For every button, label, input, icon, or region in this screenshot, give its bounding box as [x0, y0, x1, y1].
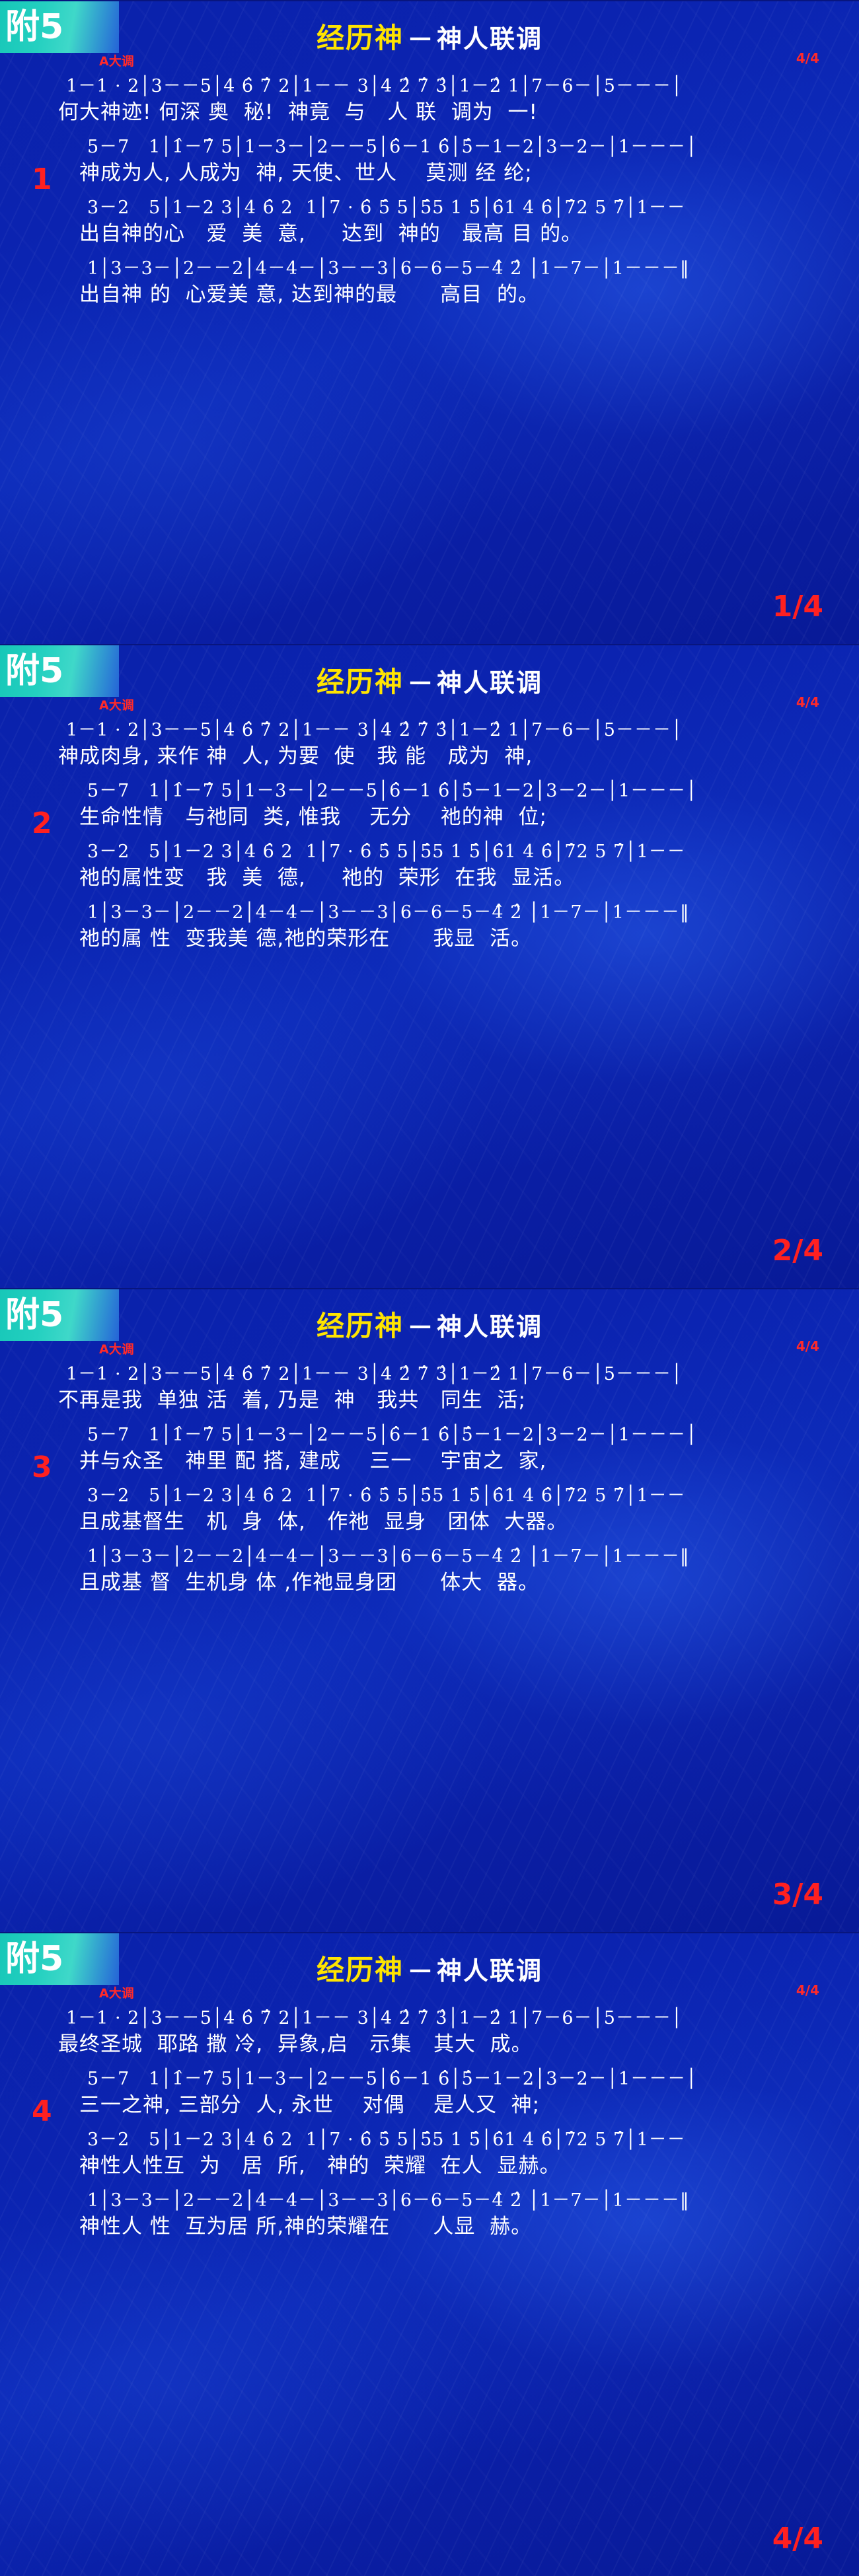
lyric-line: 出自神的心 爱 美 意, 达到 神的 最高 目 的。	[53, 221, 833, 247]
lyric-line: 并与众圣 神里 配 搭, 建成 三一 宇宙之 家,	[53, 1448, 833, 1474]
lyric-line: 神性人 性 互为居 所,神的荣耀在 人显 赫。	[53, 2213, 833, 2240]
lyric-line: 三一之神, 三部分 人, 永世 对偶 是人又 神;	[53, 2092, 833, 2118]
notation-line: 3－2 5│1－2 3│4 6̂ 2 1│7 · 6̂ 5̂ 5│5̂5 1 5…	[53, 1485, 833, 1507]
notation-line: 1│3－3－│2－－2│4－4－│3－－3│6－6－5－4̂ 2̂ │1－7－│…	[53, 258, 833, 280]
staff-line: 3－2 5│1－2 3│4 6̂ 2 1│7 · 6̂ 5̂ 5│5̂5 1 5…	[53, 1485, 833, 1535]
staff-line: 1－1 · 2│3－－5│4 6̂ 7̂ 2│1－－ 3│4 2̂ 7̂ 3̂│…	[53, 719, 833, 769]
page-label: 1/4	[772, 592, 823, 622]
page-label: 2/4	[772, 1236, 823, 1266]
notation-line: 1－1 · 2│3－－5│4 6̂ 7̂ 2│1－－ 3│4 2̂ 7̂ 3̂│…	[53, 2007, 833, 2030]
staff-line: 1│3－3－│2－－2│4－4－│3－－3│6－6－5－4̂ 2̂ │1－7－│…	[53, 2190, 833, 2240]
notation-line: 1－1 · 2│3－－5│4 6̂ 7̂ 2│1－－ 3│4 2̂ 7̂ 3̂│…	[53, 75, 833, 98]
meta-row: A大调 4/4	[0, 693, 859, 715]
staff-line: 5－7 1│1̂－7̂ 5│1－3－│2－－5│6̂－1 6̂│5̂－1－2│3…	[53, 780, 833, 830]
staff-line: 1－1 · 2│3－－5│4 6̂ 7̂ 2│1－－ 3│4 2̂ 7̂ 3̂│…	[53, 1363, 833, 1413]
song-page-4: 附5 经历神—神人联调 A大调 4/4 4 1－1 · 2│3－－5│4 6̂ …	[0, 1932, 859, 2576]
music-block: 1－1 · 2│3－－5│4 6̂ 7̂ 2│1－－ 3│4 2̂ 7̂ 3̂│…	[0, 75, 859, 308]
lyric-line: 且成基 督 生机身 体 ,作祂显身团 体大 器。	[53, 1569, 833, 1596]
meta-row: A大调 4/4	[0, 1337, 859, 1359]
time-signature: 4/4	[796, 50, 819, 66]
notation-line: 5－7 1│1̂－7̂ 5│1－3－│2－－5│6̂－1 6̂│5̂－1－2│3…	[53, 136, 833, 159]
staff-line: 1－1 · 2│3－－5│4 6̂ 7̂ 2│1－－ 3│4 2̂ 7̂ 3̂│…	[53, 75, 833, 125]
music-block: 1－1 · 2│3－－5│4 6̂ 7̂ 2│1－－ 3│4 2̂ 7̂ 3̂│…	[0, 1363, 859, 1596]
page-title: 经历神—神人联调	[0, 1289, 859, 1337]
lyric-line: 祂的属 性 变我美 德,祂的荣形在 我显 活。	[53, 925, 833, 952]
staff-line: 5－7 1│1̂－7̂ 5│1－3－│2－－5│6̂－1 6̂│5̂－1－2│3…	[53, 2068, 833, 2118]
notation-line: 1│3－3－│2－－2│4－4－│3－－3│6－6－5－4̂ 2̂ │1－7－│…	[53, 902, 833, 924]
title-dash: —	[404, 1312, 437, 1339]
meta-row: A大调 4/4	[0, 49, 859, 71]
notation-line: 1－1 · 2│3－－5│4 6̂ 7̂ 2│1－－ 3│4 2̂ 7̂ 3̂│…	[53, 1363, 833, 1386]
lyric-line: 祂的属性变 我 美 德, 祂的 荣形 在我 显活。	[53, 865, 833, 891]
title-dash: —	[404, 24, 437, 51]
page-label: 3/4	[772, 1880, 823, 1910]
lyric-line: 且成基督生 机 身 体, 作祂 显身 团体 大器。	[53, 1509, 833, 1535]
lyric-line: 生命性情 与祂同 类, 惟我 无分 祂的神 位;	[53, 804, 833, 830]
lyric-line: 出自神 的 心爱美 意, 达到神的最 高目 的。	[53, 281, 833, 308]
notation-line: 1│3－3－│2－－2│4－4－│3－－3│6－6－5－4̂ 2̂ │1－7－│…	[53, 1546, 833, 1568]
staff-line: 1│3－3－│2－－2│4－4－│3－－3│6－6－5－4̂ 2̂ │1－7－│…	[53, 1546, 833, 1596]
page-title: 经历神—神人联调	[0, 1, 859, 49]
staff-line: 1－1 · 2│3－－5│4 6̂ 7̂ 2│1－－ 3│4 2̂ 7̂ 3̂│…	[53, 2007, 833, 2057]
key-signature: A大调	[99, 1340, 134, 1357]
song-page-3: 附5 经历神—神人联调 A大调 4/4 3 1－1 · 2│3－－5│4 6̂ …	[0, 1288, 859, 1932]
title-dash: —	[404, 1956, 437, 1983]
staff-line: 5－7 1│1̂－7̂ 5│1－3－│2－－5│6̂－1 6̂│5̂－1－2│3…	[53, 1424, 833, 1474]
page-title: 经历神—神人联调	[0, 1933, 859, 1981]
staff-line: 5－7 1│1̂－7̂ 5│1－3－│2－－5│6̂－1 6̂│5̂－1－2│3…	[53, 136, 833, 186]
lyric-line: 神成为人, 人成为 神, 天使、世人 莫测 经 纶;	[53, 160, 833, 186]
notation-line: 3－2 5│1－2 3│4 6̂ 2 1│7 · 6̂ 5̂ 5│5̂5 1 5…	[53, 2129, 833, 2151]
music-block: 1－1 · 2│3－－5│4 6̂ 7̂ 2│1－－ 3│4 2̂ 7̂ 3̂│…	[0, 2007, 859, 2240]
key-signature: A大调	[99, 52, 134, 69]
staff-line: 1│3－3－│2－－2│4－4－│3－－3│6－6－5－4̂ 2̂ │1－7－│…	[53, 258, 833, 308]
notation-line: 1│3－3－│2－－2│4－4－│3－－3│6－6－5－4̂ 2̂ │1－7－│…	[53, 2190, 833, 2212]
song-page-2: 附5 经历神—神人联调 A大调 4/4 2 1－1 · 2│3－－5│4 6̂ …	[0, 644, 859, 1288]
notation-line: 3－2 5│1－2 3│4 6̂ 2 1│7 · 6̂ 5̂ 5│5̂5 1 5…	[53, 841, 833, 863]
song-page-1: 附5 经历神—神人联调 A大调 4/4 1 1－1 · 2│3－－5│4 6̂ …	[0, 0, 859, 644]
time-signature: 4/4	[796, 1982, 819, 1998]
lyric-line: 神成肉身, 来作 神 人, 为要 使 我 能 成为 神,	[53, 743, 833, 769]
staff-line: 3－2 5│1－2 3│4 6̂ 2 1│7 · 6̂ 5̂ 5│5̂5 1 5…	[53, 197, 833, 247]
meta-row: A大调 4/4	[0, 1981, 859, 2003]
lyric-line: 神性人性互 为 居 所, 神的 荣耀 在人 显赫。	[53, 2153, 833, 2179]
notation-line: 5－7 1│1̂－7̂ 5│1－3－│2－－5│6̂－1 6̂│5̂－1－2│3…	[53, 780, 833, 803]
notation-line: 5－7 1│1̂－7̂ 5│1－3－│2－－5│6̂－1 6̂│5̂－1－2│3…	[53, 2068, 833, 2091]
page-title: 经历神—神人联调	[0, 645, 859, 693]
notation-line: 1－1 · 2│3－－5│4 6̂ 7̂ 2│1－－ 3│4 2̂ 7̂ 3̂│…	[53, 719, 833, 742]
staff-line: 1│3－3－│2－－2│4－4－│3－－3│6－6－5－4̂ 2̂ │1－7－│…	[53, 902, 833, 952]
time-signature: 4/4	[796, 694, 819, 710]
lyric-line: 何大神迹! 何深 奥 秘! 神竟 与 人 联 调为 一!	[53, 99, 833, 125]
staff-line: 3－2 5│1－2 3│4 6̂ 2 1│7 · 6̂ 5̂ 5│5̂5 1 5…	[53, 2129, 833, 2179]
page-label: 4/4	[772, 2524, 823, 2554]
title-dash: —	[404, 668, 437, 695]
staff-line: 3－2 5│1－2 3│4 6̂ 2 1│7 · 6̂ 5̂ 5│5̂5 1 5…	[53, 841, 833, 891]
music-block: 1－1 · 2│3－－5│4 6̂ 7̂ 2│1－－ 3│4 2̂ 7̂ 3̂│…	[0, 719, 859, 952]
lyric-line: 不再是我 单独 活 着, 乃是 神 我共 同生 活;	[53, 1387, 833, 1413]
notation-line: 3－2 5│1－2 3│4 6̂ 2 1│7 · 6̂ 5̂ 5│5̂5 1 5…	[53, 197, 833, 219]
key-signature: A大调	[99, 696, 134, 713]
notation-line: 5－7 1│1̂－7̂ 5│1－3－│2－－5│6̂－1 6̂│5̂－1－2│3…	[53, 1424, 833, 1447]
lyric-line: 最终圣城 耶路 撒 冷, 异象,启 示集 其大 成。	[53, 2031, 833, 2057]
time-signature: 4/4	[796, 1338, 819, 1354]
key-signature: A大调	[99, 1984, 134, 2001]
